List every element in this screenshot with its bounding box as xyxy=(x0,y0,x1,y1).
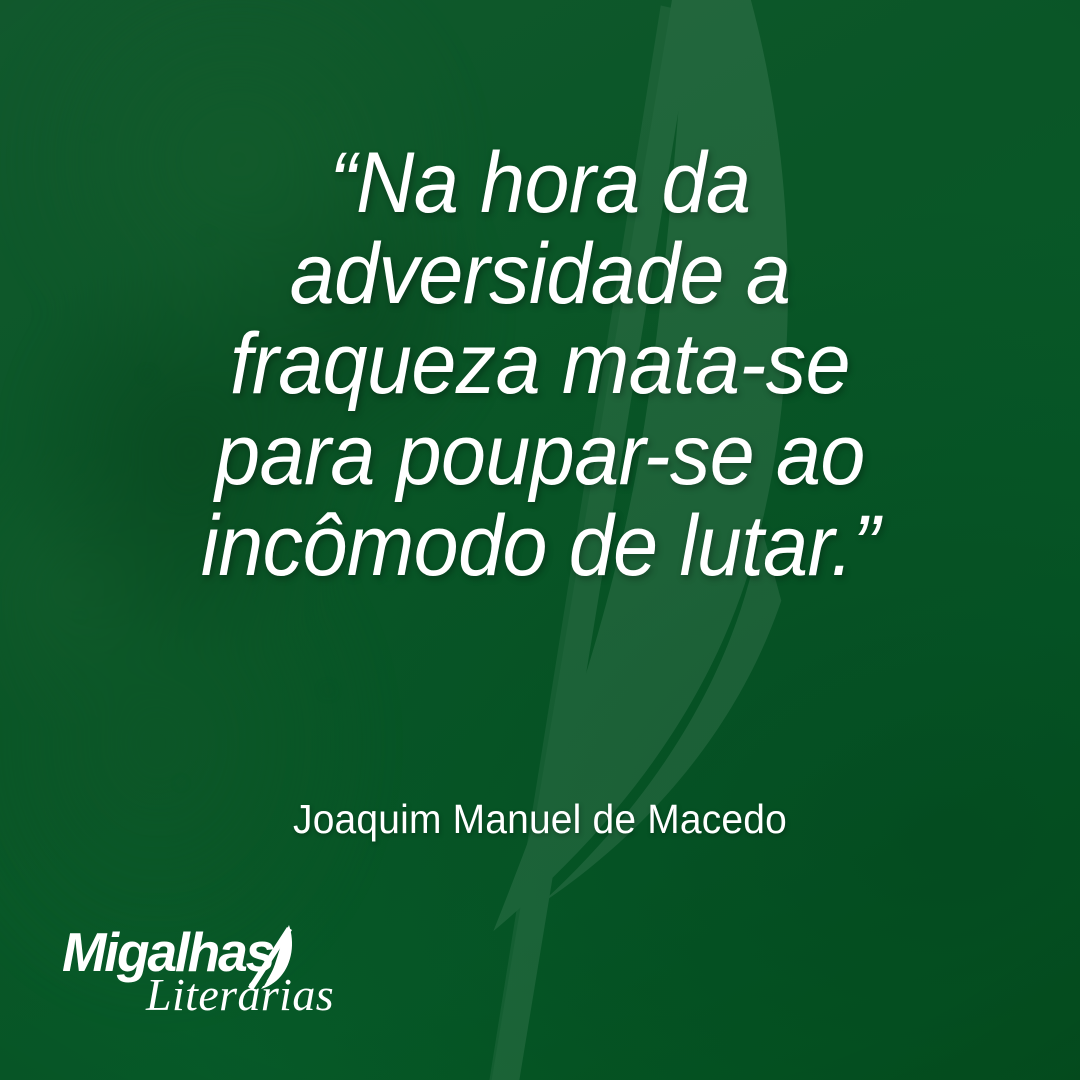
card-content: “Na hora da adversidade a fraqueza mata-… xyxy=(0,0,1080,1080)
author-name: Joaquim Manuel de Macedo xyxy=(27,796,1053,843)
logo-subtitle: Literárias xyxy=(146,972,334,1018)
quote-text: “Na hora da adversidade a fraqueza mata-… xyxy=(89,138,991,592)
quote-card: “Na hora da adversidade a fraqueza mata-… xyxy=(0,0,1080,1080)
brand-logo[interactable]: Migalhas Literárias xyxy=(62,925,312,1021)
